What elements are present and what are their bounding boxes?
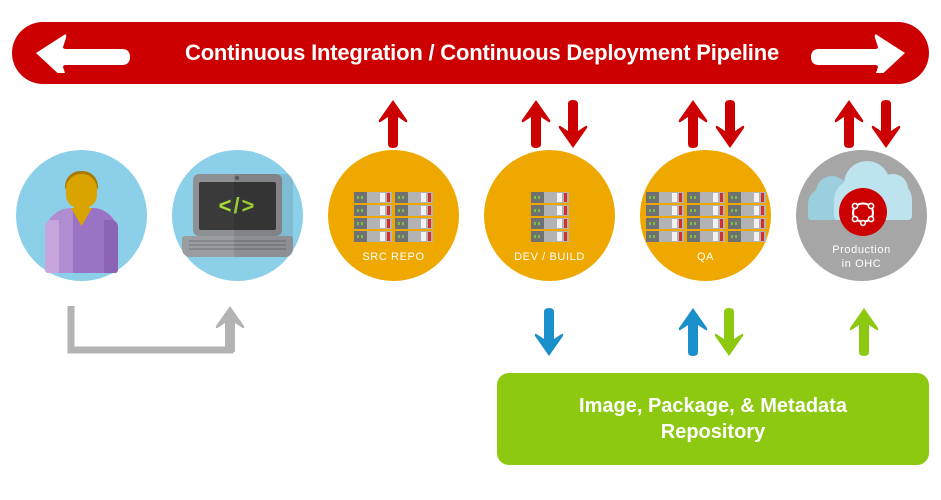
node-label-production-line2: in OHC — [796, 257, 927, 271]
arrow-right-icon — [811, 33, 907, 73]
arrow-down-dev-build-to-repo — [534, 308, 564, 356]
server-rack-icon — [484, 192, 615, 242]
arrow-up-dev-build — [521, 100, 551, 148]
node-dev-build[interactable]: DEV / BUILD — [484, 150, 615, 281]
node-production[interactable]: Production in OHC — [796, 150, 927, 281]
repository-label-line2: Repository — [661, 421, 765, 443]
arrow-up-qa-to-repo — [678, 308, 708, 356]
openshift-ring-icon — [848, 197, 878, 227]
repository-box[interactable]: Image, Package, & Metadata Repository — [497, 373, 929, 465]
node-label-dev-build: DEV / BUILD — [484, 250, 615, 264]
page-title: Continuous Integration / Continuous Depl… — [132, 22, 832, 84]
node-workstation[interactable]: </> — [172, 150, 303, 281]
arrow-left-icon — [34, 33, 130, 73]
repository-label-line1: Image, Package, & Metadata — [579, 395, 847, 417]
arrow-up-production — [834, 100, 864, 148]
arrow-down-qa — [715, 100, 745, 148]
arrow-down-production — [871, 100, 901, 148]
server-rack-icon — [640, 192, 771, 242]
repository-label: Image, Package, & Metadata Repository — [579, 393, 847, 445]
node-label-src-repo: SRC REPO — [328, 250, 459, 264]
node-label-production-line1: Production — [796, 243, 927, 257]
arrow-up-qa — [678, 100, 708, 148]
connector-developer-to-workstation — [66, 306, 248, 358]
server-rack-icon — [328, 192, 459, 242]
node-qa[interactable]: QA — [640, 150, 771, 281]
node-src-repo[interactable]: SRC REPO — [328, 150, 459, 281]
arrow-up-src-repo — [378, 100, 408, 148]
cicd-pipeline-diagram: Continuous Integration / Continuous Depl… — [0, 0, 941, 500]
arrow-up-production-from-repo — [849, 308, 879, 356]
node-label-qa: QA — [640, 250, 771, 264]
node-developer[interactable] — [16, 150, 147, 281]
arrow-down-dev-build — [558, 100, 588, 148]
arrow-down-qa-from-repo — [714, 308, 744, 356]
pipeline-banner: Continuous Integration / Continuous Depl… — [12, 22, 929, 84]
